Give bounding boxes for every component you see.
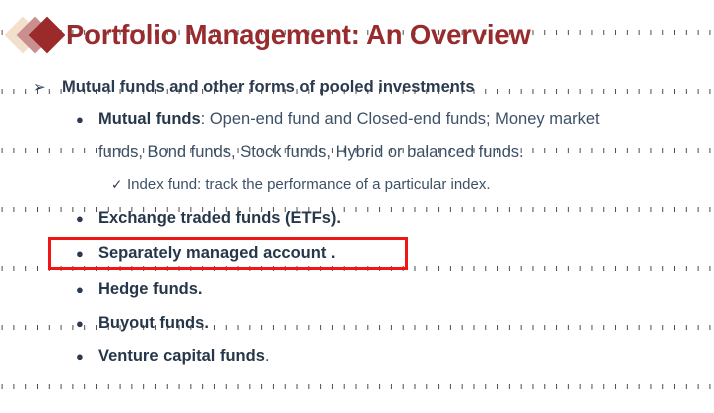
bullet-hedge-funds: ● Hedge funds. (76, 280, 203, 299)
page-title: Portfolio Management: An Overview (66, 21, 531, 49)
arrow-bullet-icon: ➢ (33, 78, 62, 96)
buyout-funds-label: Buyout funds. (98, 314, 209, 333)
bullet-level1-label: Mutual funds and other forms of pooled i… (62, 78, 475, 97)
etf-label: Exchange traded funds (ETFs). (98, 209, 341, 228)
disc-bullet-icon: ● (76, 350, 98, 363)
bullet-index-fund: ✓ Index fund: track the performance of a… (111, 176, 491, 193)
mutual-funds-description-continued: funds, Bond funds, Stock funds, Hybrid o… (98, 143, 524, 162)
mutual-funds-description: : Open-end fund and Closed-end funds; Mo… (201, 110, 600, 128)
index-fund-label: Index fund: track the performance of a p… (127, 176, 491, 193)
mutual-funds-label: Mutual funds (98, 110, 201, 128)
triple-diamond-icon (8, 15, 66, 55)
slide-content: Portfolio Management: An Overview ➢ Mutu… (0, 0, 714, 413)
bullet-venture-capital-funds: ● Venture capital funds. (76, 347, 269, 366)
disc-bullet-icon: ● (76, 113, 98, 126)
disc-bullet-icon: ● (76, 283, 98, 296)
bullet-separately-managed-account: ● Separately managed account . (76, 244, 336, 263)
disc-bullet-icon: ● (76, 247, 98, 260)
bullet-mutual-funds: ● Mutual funds: Open-end fund and Closed… (76, 110, 600, 129)
slide-title-row: Portfolio Management: An Overview (8, 15, 531, 55)
venture-capital-funds-label: Venture capital funds (98, 347, 265, 365)
bullet-buyout-funds: ● Buyout funds. (76, 314, 209, 333)
check-bullet-icon: ✓ (111, 177, 127, 193)
separately-managed-account-label: Separately managed account . (98, 244, 336, 263)
disc-bullet-icon: ● (76, 212, 98, 225)
disc-bullet-icon: ● (76, 317, 98, 330)
hedge-funds-label: Hedge funds. (98, 280, 203, 299)
bullet-etf: ● Exchange traded funds (ETFs). (76, 209, 341, 228)
bullet-level1-pooled-investments: ➢ Mutual funds and other forms of pooled… (33, 78, 475, 97)
slide-canvas: Portfolio Management: An Overview ➢ Mutu… (0, 0, 714, 413)
bullet-mutual-funds-line2: funds, Bond funds, Stock funds, Hybrid o… (98, 143, 524, 162)
venture-capital-funds-period: . (265, 347, 270, 365)
